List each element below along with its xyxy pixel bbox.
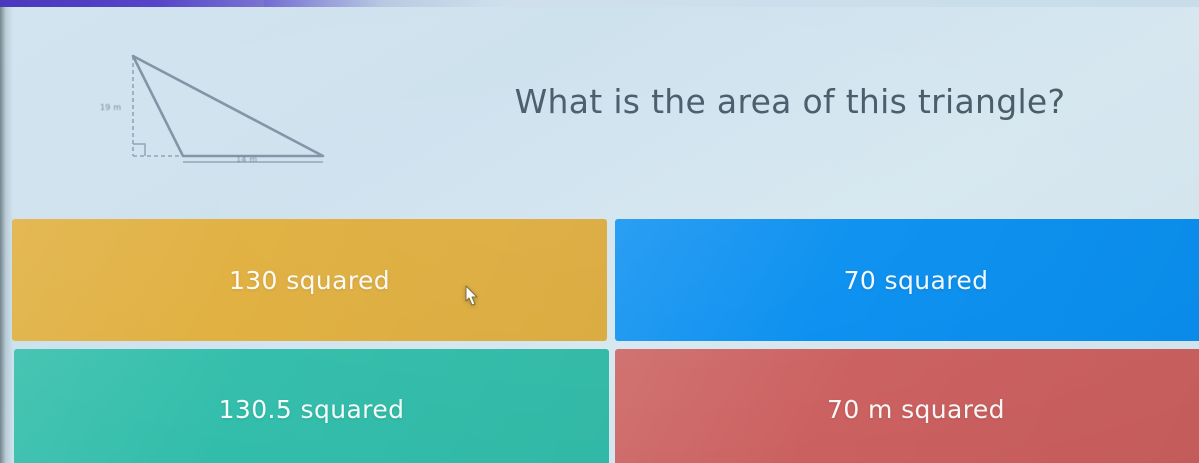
triangle-outline bbox=[133, 56, 323, 156]
answer-grid: 130 squared 70 squared 130.5 squared 70 … bbox=[12, 219, 1199, 463]
right-angle-marker bbox=[133, 144, 145, 156]
progress-bar-fill bbox=[0, 0, 264, 7]
question-text: What is the area of this triangle? bbox=[420, 82, 1160, 121]
answer-tile-a-label: 130 squared bbox=[229, 266, 390, 295]
answer-tile-c[interactable]: 130.5 squared bbox=[14, 349, 609, 463]
answer-tile-d-label: 70 m squared bbox=[827, 395, 1005, 424]
progress-bar bbox=[0, 0, 1199, 7]
answer-tile-a[interactable]: 130 squared bbox=[12, 219, 607, 341]
triangle-diagram: 19 m 14 m bbox=[70, 34, 370, 184]
answer-tile-d[interactable]: 70 m squared bbox=[615, 349, 1199, 463]
answer-tile-b[interactable]: 70 squared bbox=[615, 219, 1199, 341]
triangle-base-label: 14 m bbox=[236, 155, 257, 164]
quiz-screen: 19 m 14 m What is the area of this trian… bbox=[0, 0, 1199, 463]
hand-pointer-cursor bbox=[462, 284, 486, 312]
answer-tile-c-label: 130.5 squared bbox=[219, 395, 405, 424]
answer-tile-b-label: 70 squared bbox=[844, 266, 989, 295]
triangle-height-label: 19 m bbox=[100, 103, 121, 112]
